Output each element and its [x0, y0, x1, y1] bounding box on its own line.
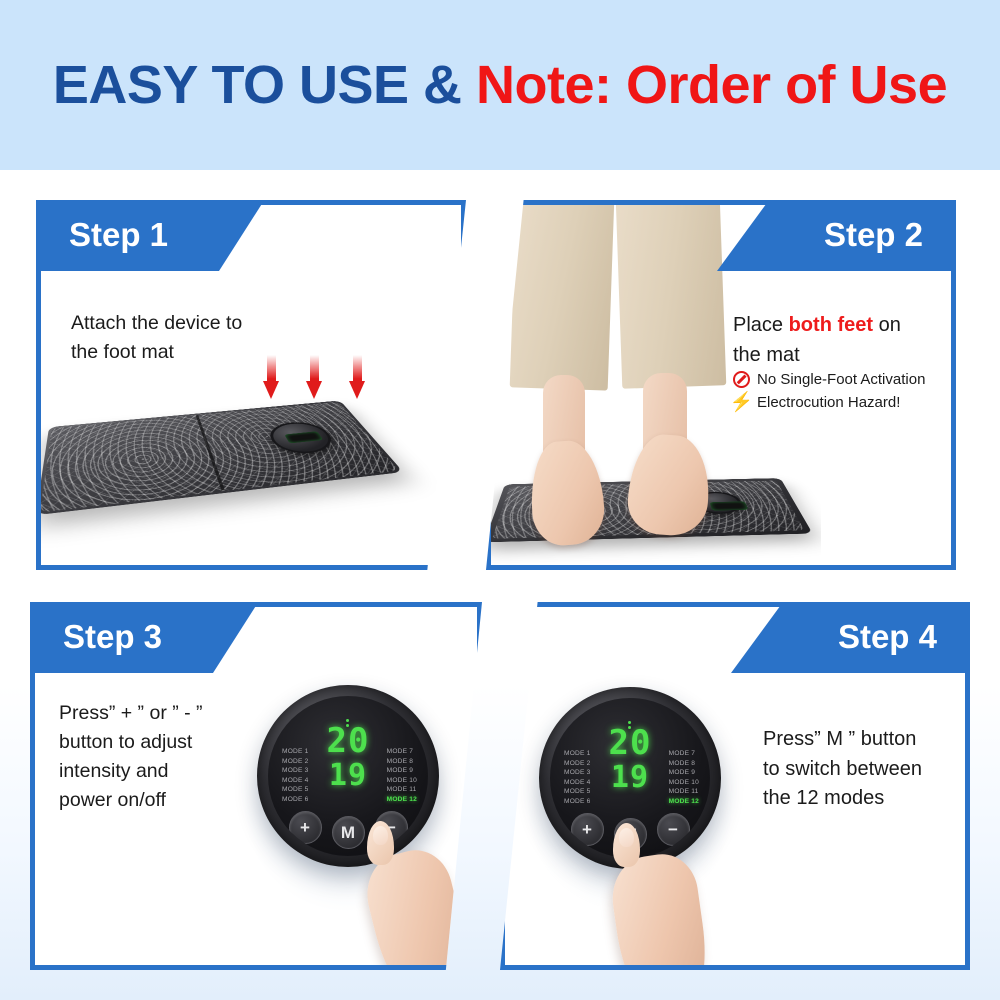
step-2-panel: Step 2 Place both feet on the mat No Sin…: [486, 200, 956, 570]
device-face: 20 19 MODE 1 MODE 2 MODE 3 MODE 4 MODE 5…: [268, 696, 428, 856]
step-3-device: 20 19 MODE 1 MODE 2 MODE 3 MODE 4 MODE 5…: [257, 685, 439, 867]
down-arrow-icon: [306, 355, 323, 401]
device-button-row: + M −: [268, 811, 428, 844]
step-1-banner: Step 1: [41, 205, 265, 271]
mode-item: MODE 2: [564, 760, 590, 767]
minus-button[interactable]: −: [657, 813, 690, 846]
left-foot: [527, 439, 606, 548]
step-2-banner-label: Step 2: [824, 216, 923, 254]
lightning-bolt-icon: ⚡: [733, 393, 750, 412]
mode-item: MODE 5: [282, 786, 308, 793]
mode-item: MODE 10: [387, 777, 417, 784]
lcd-colon-icon: [628, 721, 631, 724]
step-2-text-highlight: both feet: [789, 314, 873, 336]
warning-label: Electrocution Hazard!: [757, 394, 900, 411]
lcd-bottom-value: 19: [609, 764, 652, 792]
mode-item: MODE 8: [387, 758, 417, 765]
mode-item: MODE 9: [387, 767, 417, 774]
right-foot: [626, 432, 713, 537]
mode-item: MODE 7: [387, 748, 417, 755]
step-2-body-text: Place both feet on the mat: [733, 311, 901, 370]
step-3-panel: Step 3 Press” + ” or ” - ” button to adj…: [30, 602, 482, 970]
step-2-warning-list: No Single-Foot Activation ⚡ Electrocutio…: [733, 371, 925, 417]
step-1-body-text: Attach the device to the foot mat: [71, 309, 242, 367]
step-4-body-text: Press” M ” button to switch between the …: [763, 725, 922, 814]
lcd-display: 20 19: [327, 726, 370, 790]
mode-list-left: MODE 1 MODE 2 MODE 3 MODE 4 MODE 5 MODE …: [282, 748, 308, 803]
mode-item: MODE 4: [564, 779, 590, 786]
mode-item: MODE 10: [669, 779, 699, 786]
downward-arrows-group: [263, 355, 366, 401]
fingernail: [619, 828, 634, 847]
step-4-banner-label: Step 4: [838, 618, 937, 656]
down-arrow-icon: [263, 355, 280, 401]
mode-item: MODE 6: [282, 796, 308, 803]
down-arrow-icon: [349, 355, 366, 401]
mode-item: MODE 11: [669, 788, 699, 795]
mode-list-right: MODE 7 MODE 8 MODE 9 MODE 10 MODE 11 MOD…: [387, 748, 417, 803]
step-1-panel: Step 1 Attach the device to the foot mat: [36, 200, 466, 570]
mode-item: MODE 5: [564, 788, 590, 795]
mode-item: MODE 3: [564, 769, 590, 776]
mode-item: MODE 7: [669, 750, 699, 757]
mode-item-active: MODE 12: [669, 798, 699, 805]
step-4-banner: Step 4: [731, 607, 965, 673]
mode-item: MODE 8: [669, 760, 699, 767]
step-3-banner: Step 3: [35, 607, 259, 673]
mode-item: MODE 1: [564, 750, 590, 757]
lcd-top-value: 20: [609, 728, 652, 759]
step-3-body-text: Press” + ” or ” - ” button to adjust int…: [59, 699, 203, 814]
mode-item-active: MODE 12: [387, 796, 417, 803]
warning-label: No Single-Foot Activation: [757, 371, 925, 388]
no-entry-icon: [733, 371, 750, 388]
lcd-colon-icon: [346, 719, 349, 722]
mode-item: MODE 9: [669, 769, 699, 776]
mode-item: MODE 11: [387, 786, 417, 793]
mode-item: MODE 4: [282, 777, 308, 784]
warning-item: No Single-Foot Activation: [733, 371, 925, 388]
fingernail: [373, 826, 388, 845]
foot-mat: [41, 400, 403, 515]
step-2-text-prefix: Place: [733, 314, 789, 336]
mode-item: MODE 2: [282, 758, 308, 765]
mode-list-left: MODE 1 MODE 2 MODE 3 MODE 4 MODE 5 MODE …: [564, 750, 590, 805]
mode-item: MODE 6: [564, 798, 590, 805]
step-4-panel: Step 4 20 19 MODE 1 MODE 2 MODE 3 MODE 4: [500, 602, 970, 970]
trouser-leg-right: [616, 205, 727, 389]
mode-item: MODE 3: [282, 767, 308, 774]
mode-list-right: MODE 7 MODE 8 MODE 9 MODE 10 MODE 11 MOD…: [669, 750, 699, 805]
lcd-display: 20 19: [609, 728, 652, 792]
page-title-blue: EASY TO USE &: [53, 55, 462, 115]
plus-button[interactable]: +: [289, 811, 322, 844]
lcd-bottom-value: 19: [327, 762, 370, 790]
lcd-top-value: 20: [327, 726, 370, 757]
trouser-leg-left: [510, 205, 615, 391]
header-banner: EASY TO USE & Note: Order of Use: [0, 0, 1000, 170]
mat-texture: [41, 402, 399, 513]
warning-item: ⚡ Electrocution Hazard!: [733, 393, 925, 412]
mode-button[interactable]: M: [332, 816, 365, 849]
step-1-banner-label: Step 1: [69, 216, 168, 254]
ems-controller: 20 19 MODE 1 MODE 2 MODE 3 MODE 4 MODE 5…: [257, 685, 439, 867]
mode-item: MODE 1: [282, 748, 308, 755]
plus-button[interactable]: +: [571, 813, 604, 846]
page-title: EASY TO USE & Note: Order of Use: [53, 58, 947, 112]
step-3-banner-label: Step 3: [63, 618, 162, 656]
page-title-red: Note: Order of Use: [476, 55, 947, 115]
